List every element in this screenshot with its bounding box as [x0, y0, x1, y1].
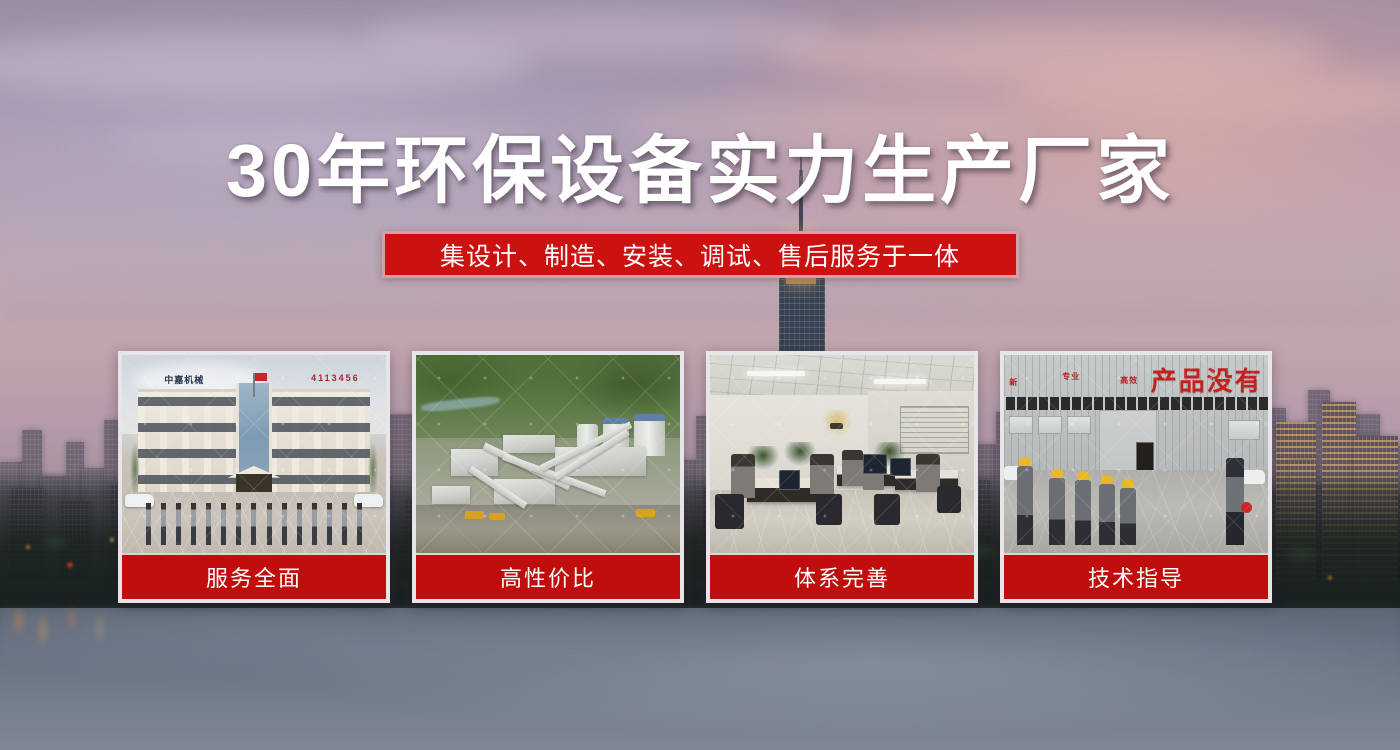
- water-light-reflections: [0, 608, 476, 673]
- company-sign-text: 中嘉机械: [164, 373, 204, 386]
- subtitle-badge: 集设计、制造、安装、调试、售后服务于一体: [382, 231, 1019, 278]
- card-label: 技术指导: [1004, 553, 1268, 599]
- card-label: 体系完善: [710, 553, 974, 599]
- subtitle-container: 集设计、制造、安装、调试、售后服务于一体: [0, 231, 1400, 278]
- aerial-industrial-plant-photo: [416, 355, 680, 553]
- workers-training-at-factory-photo: 产品没有 新 专业 高效: [1004, 355, 1268, 553]
- feature-card-service[interactable]: 中嘉机械 4113456 服务全面: [118, 351, 390, 603]
- card-label: 服务全面: [122, 553, 386, 599]
- page-title: 30年环保设备实力生产厂家: [0, 134, 1400, 208]
- office-building-with-staff-photo: 中嘉机械 4113456: [122, 355, 386, 553]
- feature-card-value[interactable]: 高性价比: [412, 351, 684, 603]
- wall-slogan-text: 新: [1009, 377, 1018, 388]
- window-blinds: [900, 406, 969, 454]
- phone-number-text: 4113456: [311, 373, 360, 383]
- promotional-banner: 30年环保设备实力生产厂家 集设计、制造、安装、调试、售后服务于一体 中嘉机械 …: [0, 0, 1400, 750]
- wall-decal: [821, 410, 853, 438]
- river-water: [0, 608, 1400, 750]
- cloud-band: [364, 8, 840, 61]
- wall-slogan-text: 专业: [1062, 371, 1080, 382]
- feature-card-system[interactable]: 体系完善: [706, 351, 978, 603]
- feature-card-row: 中嘉机械 4113456 服务全面: [118, 351, 1282, 603]
- wall-slogan-text: 高效: [1120, 375, 1138, 386]
- instructor-figure: [1226, 458, 1244, 545]
- staff-lineup: [146, 498, 363, 546]
- factory-slogan-text: 产品没有: [1151, 361, 1263, 398]
- feature-card-training[interactable]: 产品没有 新 专业 高效: [1000, 351, 1272, 603]
- office-interior-workplace-photo: [710, 355, 974, 553]
- flag-icon: [253, 373, 255, 397]
- card-label: 高性价比: [416, 553, 680, 599]
